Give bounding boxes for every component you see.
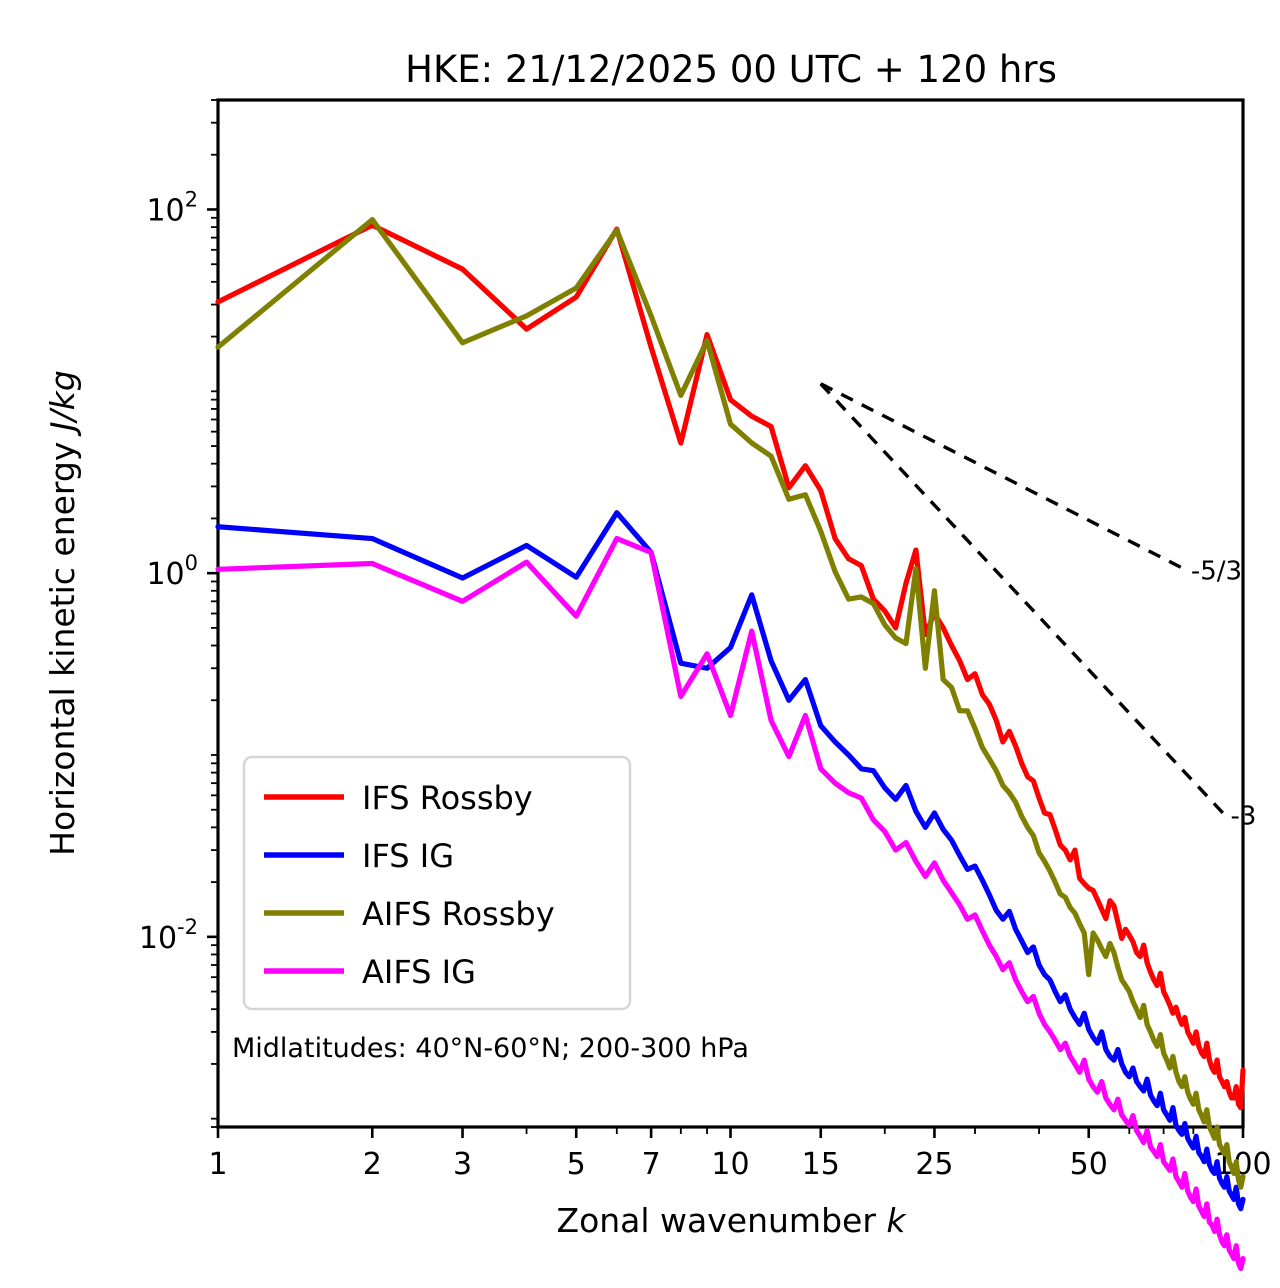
hke-spectrum-chart: HKE: 21/12/2025 00 UTC + 120 hrs 1235710… (0, 0, 1280, 1288)
x-tick-label: 2 (363, 1147, 382, 1182)
x-tick-label: 25 (915, 1147, 953, 1182)
chart-page: HKE: 21/12/2025 00 UTC + 120 hrs 1235710… (0, 0, 1280, 1288)
legend-label-aifs-ig[interactable]: AIFS IG (362, 953, 476, 991)
x-axis-minor-ticks (218, 1127, 1243, 1134)
x-tick-label: 10 (711, 1147, 749, 1182)
x-axis-label: Zonal wavenumber k (556, 1201, 907, 1240)
x-tick-label: 3 (453, 1147, 472, 1182)
x-tick-label: 50 (1070, 1147, 1108, 1182)
x-tick-label: 1 (208, 1147, 227, 1182)
legend-label-ifs-rossby[interactable]: IFS Rossby (362, 779, 533, 817)
legend-label-ifs-ig[interactable]: IFS IG (362, 837, 454, 875)
reference-line-label: -3 (1230, 802, 1256, 832)
region-annotation: Midlatitudes: 40°N-60°N; 200-300 hPa (232, 1033, 749, 1064)
reference-line-label: -5/3 (1191, 556, 1242, 586)
x-tick-label: 5 (567, 1147, 586, 1182)
x-tick-label: 15 (802, 1147, 840, 1182)
legend-label-aifs-rossby[interactable]: AIFS Rossby (362, 895, 555, 933)
y-axis-label: Horizontal kinetic energy J/kg (43, 370, 82, 856)
x-tick-label: 7 (642, 1147, 661, 1182)
chart-title: HKE: 21/12/2025 00 UTC + 120 hrs (405, 48, 1057, 91)
chart-legend[interactable]: IFS RossbyIFS IGAIFS RossbyAIFS IG (244, 757, 630, 1009)
